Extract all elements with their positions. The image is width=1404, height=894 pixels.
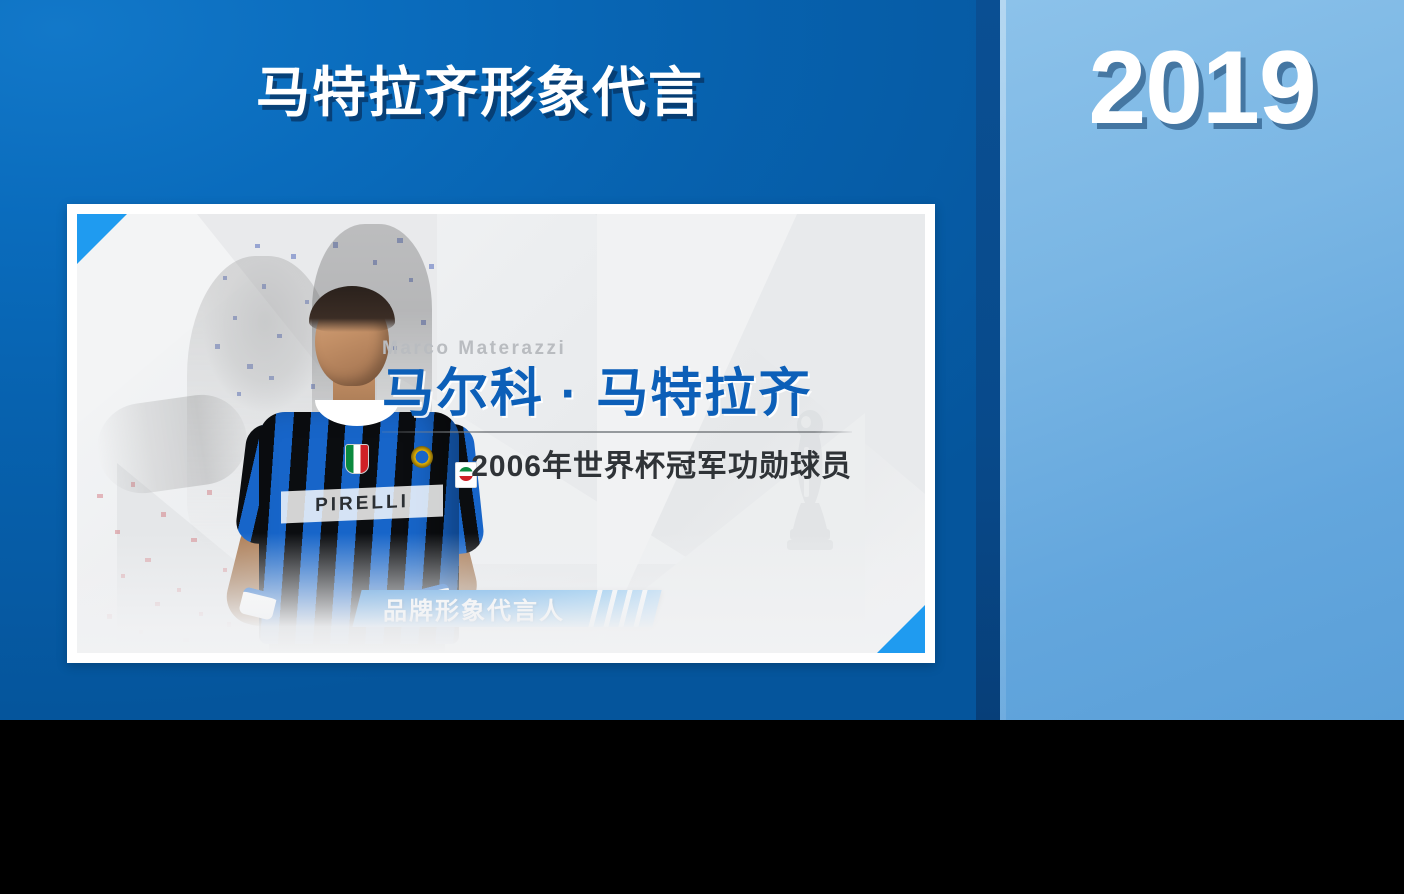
slide-root: 马特拉齐形象代言 2019 [0, 0, 1404, 894]
corner-accent-bottom-right-icon [877, 605, 925, 653]
scudetto-badge-icon [345, 444, 369, 474]
divider-rule [382, 431, 852, 433]
latin-name-label: Marco Materazzi [382, 338, 852, 360]
photo-bottom-fade [77, 533, 925, 653]
achievement-subtitle: 2006年世界杯冠军功勋球员 [382, 441, 852, 485]
panel-divider [976, 0, 1000, 720]
year-label: 2019 [1000, 36, 1404, 140]
banner-text-block: Marco Materazzi 马尔科 · 马特拉齐 2006年世界杯冠军功勋球… [382, 338, 852, 485]
page-title: 马特拉齐形象代言 [256, 62, 704, 124]
banner-photo-frame: PIRELLI [67, 204, 935, 663]
bottom-black-band [0, 720, 1404, 894]
corner-accent-top-left-icon [77, 214, 127, 264]
banner-photo: PIRELLI [77, 214, 925, 653]
chinese-name-label: 马尔科 · 马特拉齐 [382, 366, 852, 423]
slide-stage: 马特拉齐形象代言 2019 [0, 0, 1404, 720]
player-hair [309, 286, 395, 332]
